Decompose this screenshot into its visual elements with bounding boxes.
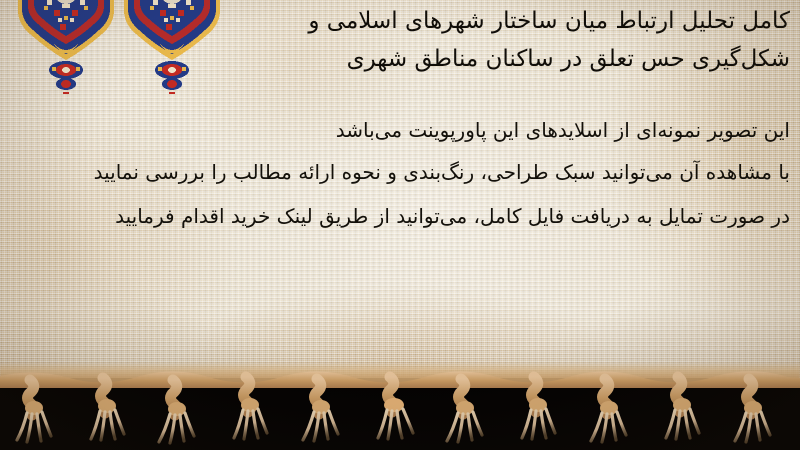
title-line-2: شکل‌گیری حس تعلق در ساکنان مناطق شهری (230, 40, 790, 78)
persian-medallion-motif-right-icon (120, 0, 224, 94)
carpet-tassel-fringe (0, 362, 800, 450)
tassel-row-icon (0, 362, 800, 450)
slide-title: کامل تحلیل ارتباط میان ساختار شهرهای اسل… (230, 2, 790, 78)
body-line-2: با مشاهده آن می‌توانید سبک طراحی، رنگ‌بن… (8, 150, 790, 194)
slide-body: این تصویر نمونه‌ای از اسلایدهای این پاور… (8, 110, 790, 238)
body-line-3: در صورت تمایل به دریافت فایل کامل، می‌تو… (8, 194, 790, 238)
body-line-1: این تصویر نمونه‌ای از اسلایدهای این پاور… (8, 110, 790, 150)
slide-canvas: کامل تحلیل ارتباط میان ساختار شهرهای اسل… (0, 0, 800, 450)
persian-medallion-motif-left-icon (14, 0, 118, 94)
title-line-1: کامل تحلیل ارتباط میان ساختار شهرهای اسل… (230, 2, 790, 40)
